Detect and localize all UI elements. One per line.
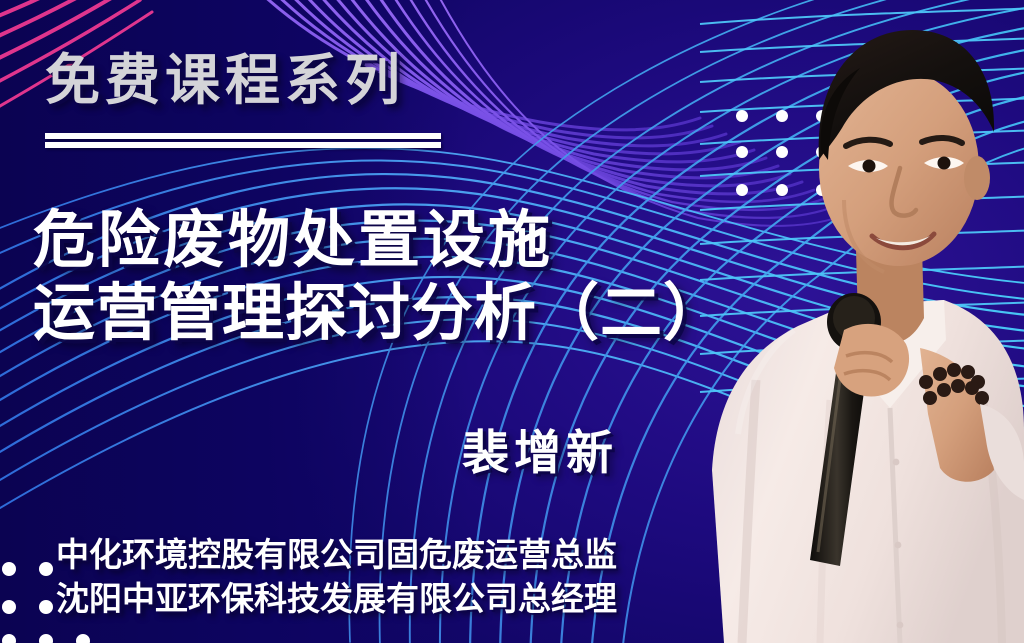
divider-line-top <box>45 133 441 139</box>
poster-content: 免费课程系列 危险废物处置设施 运营管理探讨分析（二） 裴增新 中化环境控股有限… <box>0 0 1024 643</box>
title-line-1: 危险废物处置设施 <box>33 203 726 276</box>
series-kicker: 免费课程系列 <box>45 52 405 107</box>
divider-line-bottom <box>45 142 441 148</box>
title-divider <box>45 133 441 148</box>
speaker-credentials: 中化环境控股有限公司固危废运营总监 沈阳中亚环保科技发展有限公司总经理 <box>56 533 617 621</box>
speaker-name: 裴增新 <box>462 430 618 477</box>
course-poster: 免费课程系列 危险废物处置设施 运营管理探讨分析（二） 裴增新 中化环境控股有限… <box>0 0 1024 643</box>
main-title: 危险废物处置设施 运营管理探讨分析（二） <box>33 203 726 349</box>
title-line-2: 运营管理探讨分析（二） <box>33 276 726 349</box>
credential-line-2: 沈阳中亚环保科技发展有限公司总经理 <box>56 577 617 621</box>
credential-line-1: 中化环境控股有限公司固危废运营总监 <box>56 533 617 577</box>
